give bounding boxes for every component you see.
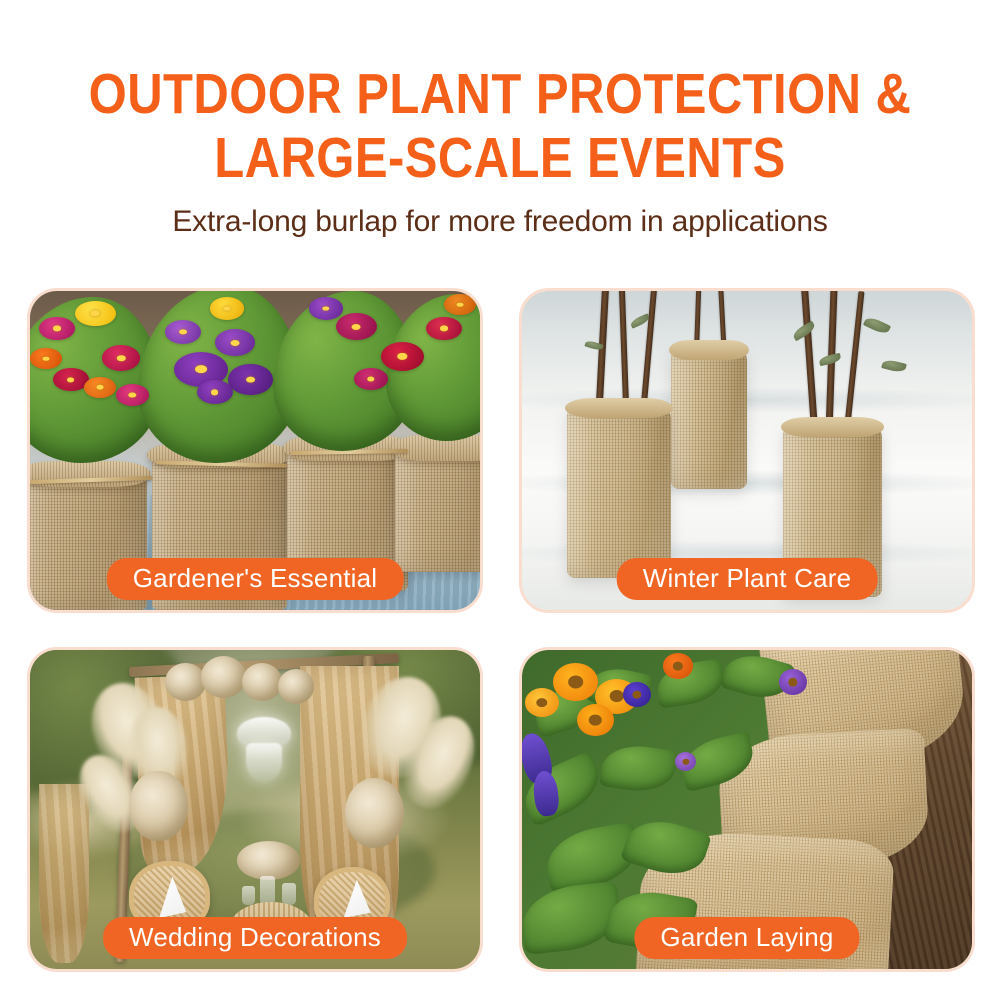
- feature-card-garden-laying[interactable]: Garden Laying: [519, 647, 975, 972]
- card-badge-wedding-decorations[interactable]: Wedding Decorations: [103, 917, 407, 959]
- page-title-line2: LARGE-SCALE EVENTS: [70, 126, 930, 190]
- feature-card-winter-plant-care[interactable]: Winter Plant Care: [519, 288, 975, 613]
- feature-card-wedding-decorations[interactable]: Wedding Decorations: [27, 647, 483, 972]
- card-badge-winter-plant-care[interactable]: Winter Plant Care: [617, 558, 878, 600]
- header: OUTDOOR PLANT PROTECTION & LARGE-SCALE E…: [0, 0, 1000, 240]
- page-title-line1: OUTDOOR PLANT PROTECTION &: [70, 62, 930, 126]
- feature-card-grid: Gardener's Essential: [27, 288, 975, 972]
- page-subtitle: Extra-long burlap for more freedom in ap…: [0, 204, 1000, 240]
- product-infographic: OUTDOOR PLANT PROTECTION & LARGE-SCALE E…: [0, 0, 1000, 1000]
- feature-card-gardeners-essential[interactable]: Gardener's Essential: [27, 288, 483, 613]
- card-badge-garden-laying[interactable]: Garden Laying: [634, 917, 859, 959]
- card-badge-gardeners-essential[interactable]: Gardener's Essential: [107, 558, 404, 600]
